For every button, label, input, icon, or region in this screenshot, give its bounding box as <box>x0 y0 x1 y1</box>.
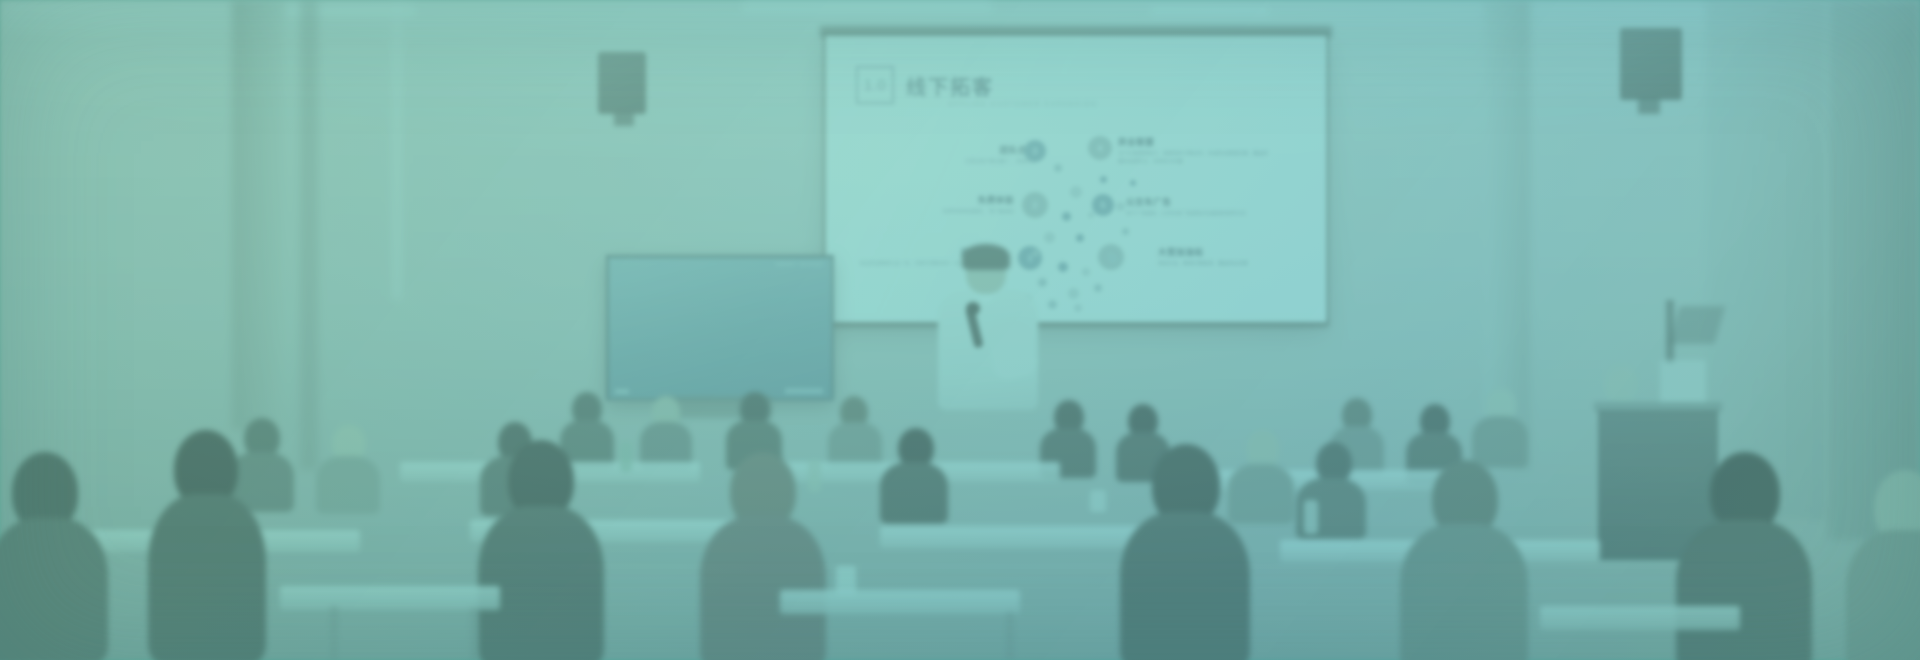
vignette-overlay <box>0 0 1920 660</box>
hero-banner: 1.0 线下拓客 OFFLINE CUSTOMER EXPANSION 团队合作… <box>0 0 1920 660</box>
